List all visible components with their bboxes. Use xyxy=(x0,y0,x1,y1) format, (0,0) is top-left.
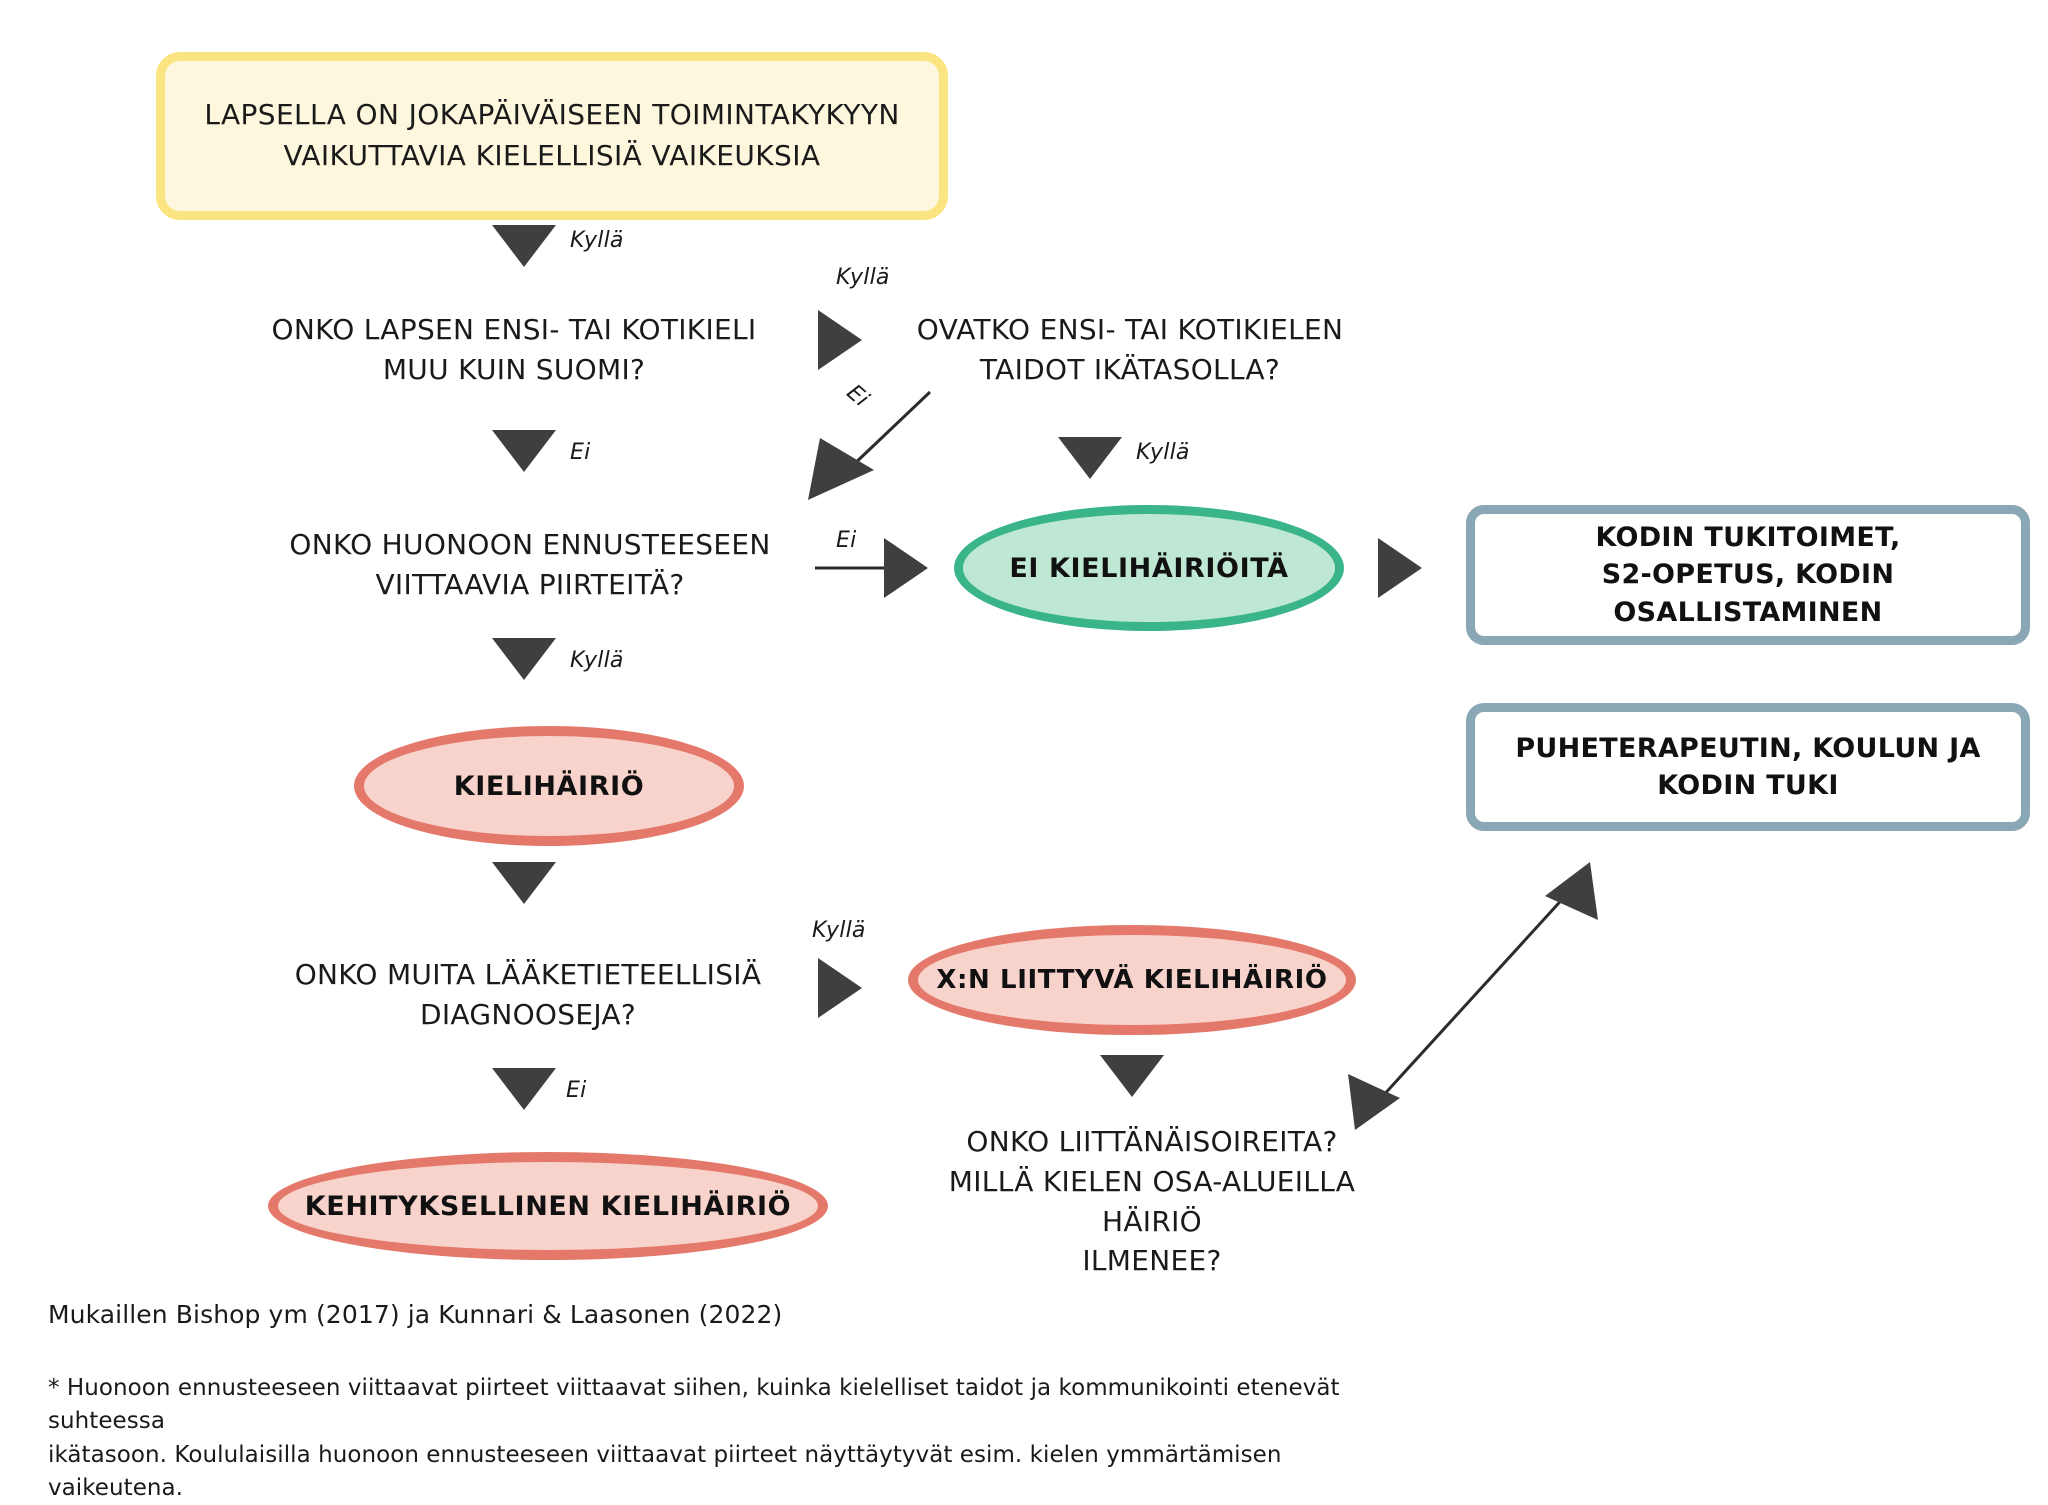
arrow-down-other-diagnoses-no xyxy=(492,1068,556,1110)
arrow-right-first-language xyxy=(818,310,862,370)
question-poor-prognosis: ONKO HUONOON ENNUSTEESEEN VIITTAAVIA PII… xyxy=(250,525,810,605)
outcome-developmental-disorder: KEHITYKSELLINEN KIELIHÄIRIÖ xyxy=(268,1152,828,1260)
outcome-developmental-disorder-label: KEHITYKSELLINEN KIELIHÄIRIÖ xyxy=(305,1191,791,1222)
label-other-diagnoses-yes: Kyllä xyxy=(812,918,866,943)
arrow-right-other-diagnoses-yes xyxy=(818,958,862,1018)
label-start-yes: Kyllä xyxy=(570,228,624,253)
outcome-no-disorder-label: EI KIELIHÄIRIÖITÄ xyxy=(1009,553,1288,584)
label-age-skills-yes: Kyllä xyxy=(1136,440,1190,465)
arrow-down-poor-prognosis-yes xyxy=(492,638,556,680)
arrow-right-poor-prognosis-no xyxy=(884,538,928,598)
label-first-language-no: Ei xyxy=(570,440,590,465)
outcome-language-disorder-label: KIELIHÄIRIÖ xyxy=(454,771,645,802)
arrow-down-first-language-no xyxy=(492,430,556,472)
label-first-language-yes: Kyllä xyxy=(836,265,890,290)
start-box: LAPSELLA ON JOKAPÄIVÄISEEN TOIMINTAKYKYY… xyxy=(156,52,948,220)
arrow-down-language-disorder xyxy=(492,862,556,904)
support-home-label: KODIN TUKITOIMET, S2-OPETUS, KODIN OSALL… xyxy=(1595,519,1900,631)
outcome-associated-disorder-label: X:N LIITTYVÄ KIELIHÄIRIÖ xyxy=(936,965,1327,995)
outcome-no-disorder: EI KIELIHÄIRIÖITÄ xyxy=(954,505,1344,631)
support-home-box: KODIN TUKITOIMET, S2-OPETUS, KODIN OSALL… xyxy=(1466,505,2030,645)
support-therapy-box: PUHETERAPEUTIN, KOULUN JA KODIN TUKI xyxy=(1466,703,2030,831)
arrow-down-start xyxy=(492,225,556,267)
label-poor-prognosis-no: Ei xyxy=(836,528,856,553)
flowchart-canvas: LAPSELLA ON JOKAPÄIVÄISEEN TOIMINTAKYKYY… xyxy=(0,0,2048,1448)
label-poor-prognosis-yes: Kyllä xyxy=(570,648,624,673)
arrow-down-associated-disorder xyxy=(1100,1055,1164,1097)
question-first-language: ONKO LAPSEN ENSI- TAI KOTIKIELI MUU KUIN… xyxy=(234,310,794,390)
support-therapy-label: PUHETERAPEUTIN, KOULUN JA KODIN TUKI xyxy=(1515,730,1980,805)
question-associated-symptoms: ONKO LIITTÄNÄISOIREITA? MILLÄ KIELEN OSA… xyxy=(902,1122,1402,1281)
label-age-skills-no: Ei xyxy=(842,380,874,412)
question-age-level-skills: OVATKO ENSI- TAI KOTIKIELEN TAIDOT IKÄTA… xyxy=(900,310,1360,390)
label-other-diagnoses-no: Ei xyxy=(566,1078,586,1103)
footnote-text: * Huonoon ennusteeseen viittaavat piirte… xyxy=(48,1372,1398,1505)
question-other-diagnoses: ONKO MUITA LÄÄKETIETEELLISIÄ DIAGNOOSEJA… xyxy=(248,955,808,1035)
outcome-associated-disorder: X:N LIITTYVÄ KIELIHÄIRIÖ xyxy=(908,925,1356,1035)
arrow-right-no-disorder xyxy=(1378,538,1422,598)
arrow-down-age-skills xyxy=(1058,437,1122,479)
arrow-diagonal-age-skills-no xyxy=(806,432,878,504)
outcome-language-disorder: KIELIHÄIRIÖ xyxy=(354,726,744,846)
credit-text: Mukaillen Bishop ym (2017) ja Kunnari & … xyxy=(48,1300,782,1329)
start-box-label: LAPSELLA ON JOKAPÄIVÄISEEN TOIMINTAKYKYY… xyxy=(204,95,899,176)
